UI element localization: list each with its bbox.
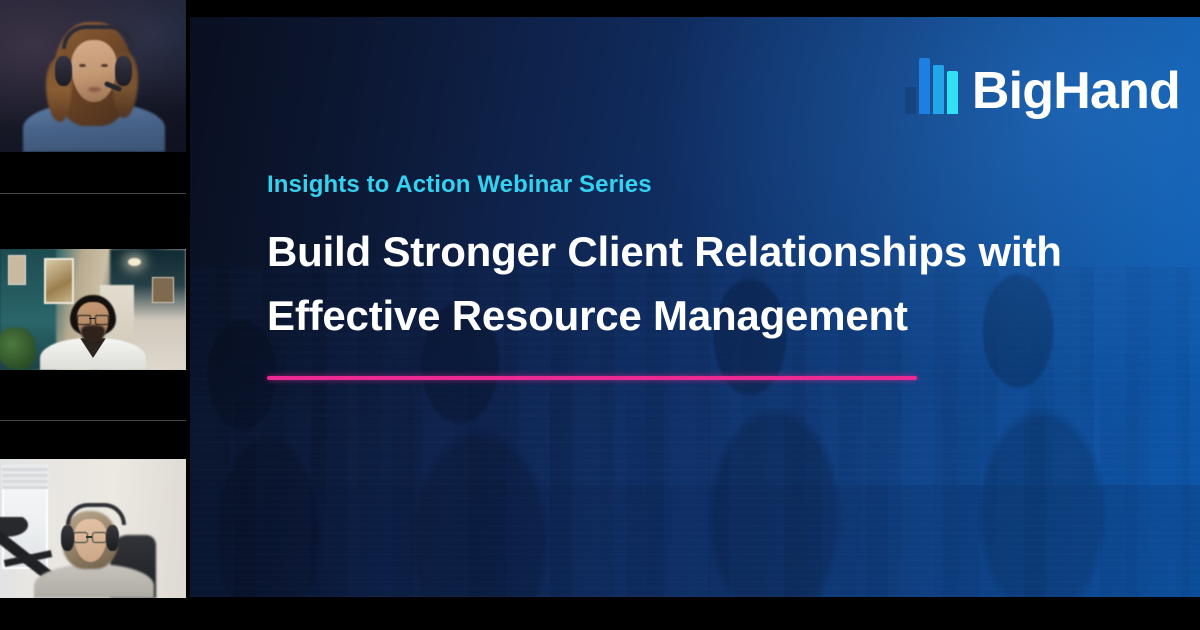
filmstrip-divider-2: [0, 420, 186, 421]
webinar-screenshot: BigHand Insights to Action Webinar Serie…: [0, 0, 1200, 630]
logo-bar-4: [947, 71, 958, 114]
letterbox-bar-top: [186, 0, 1200, 17]
participant-video-tile-3[interactable]: [0, 459, 186, 598]
tile-1-headphone-left: [55, 56, 72, 86]
participant-video-tile-2[interactable]: [0, 249, 186, 370]
tile-1-mouth: [88, 87, 101, 92]
tile-3-headphone-band: [66, 503, 126, 525]
tile-2-framed-art-1: [8, 255, 26, 285]
slide-eyebrow: Insights to Action Webinar Series: [267, 172, 1107, 198]
tile-1-headphone-band: [62, 25, 134, 49]
participant-filmstrip[interactable]: [0, 0, 186, 630]
shared-slide: BigHand Insights to Action Webinar Serie…: [190, 17, 1200, 597]
bighand-bars-logo-icon: [905, 58, 958, 117]
tile-1-eye-left: [79, 64, 86, 67]
participant-video-tile-1[interactable]: [0, 0, 186, 152]
slide-copy-block: Insights to Action Webinar Series Build …: [267, 172, 1107, 380]
tile-2-glasses-left: [77, 315, 91, 325]
bighand-wordmark: BigHand: [972, 65, 1180, 117]
tile-3-window-blind: [2, 465, 48, 489]
tile-2-ceiling-light: [128, 258, 141, 266]
bighand-logo: BigHand: [905, 58, 1180, 117]
tile-3-headphone-right: [106, 525, 119, 551]
logo-bar-3: [933, 65, 944, 114]
tile-2-framed-art-2: [44, 258, 74, 304]
letterbox-bar-bottom: [186, 597, 1200, 630]
filmstrip-divider-1: [0, 193, 186, 194]
tile-1-eye-right: [101, 64, 108, 67]
tile-3-headphone-left: [61, 525, 74, 551]
logo-bar-1: [905, 87, 916, 114]
slide-accent-rule: [267, 376, 917, 380]
tile-3-glasses-right: [92, 532, 107, 543]
slide-headline: Build Stronger Client Relationships with…: [267, 220, 1107, 348]
tile-2-plant: [0, 327, 36, 370]
tile-2-framed-art-3: [152, 277, 174, 303]
tile-1-headphone-right: [115, 56, 132, 86]
tile-2-glasses-bridge: [89, 318, 95, 319]
tile-3-glasses-left: [73, 532, 88, 543]
filmstrip-edge: [186, 0, 190, 630]
logo-bar-2: [919, 58, 930, 114]
tile-2-glasses-right: [95, 315, 109, 325]
tile-3-glasses-bridge: [86, 536, 92, 538]
